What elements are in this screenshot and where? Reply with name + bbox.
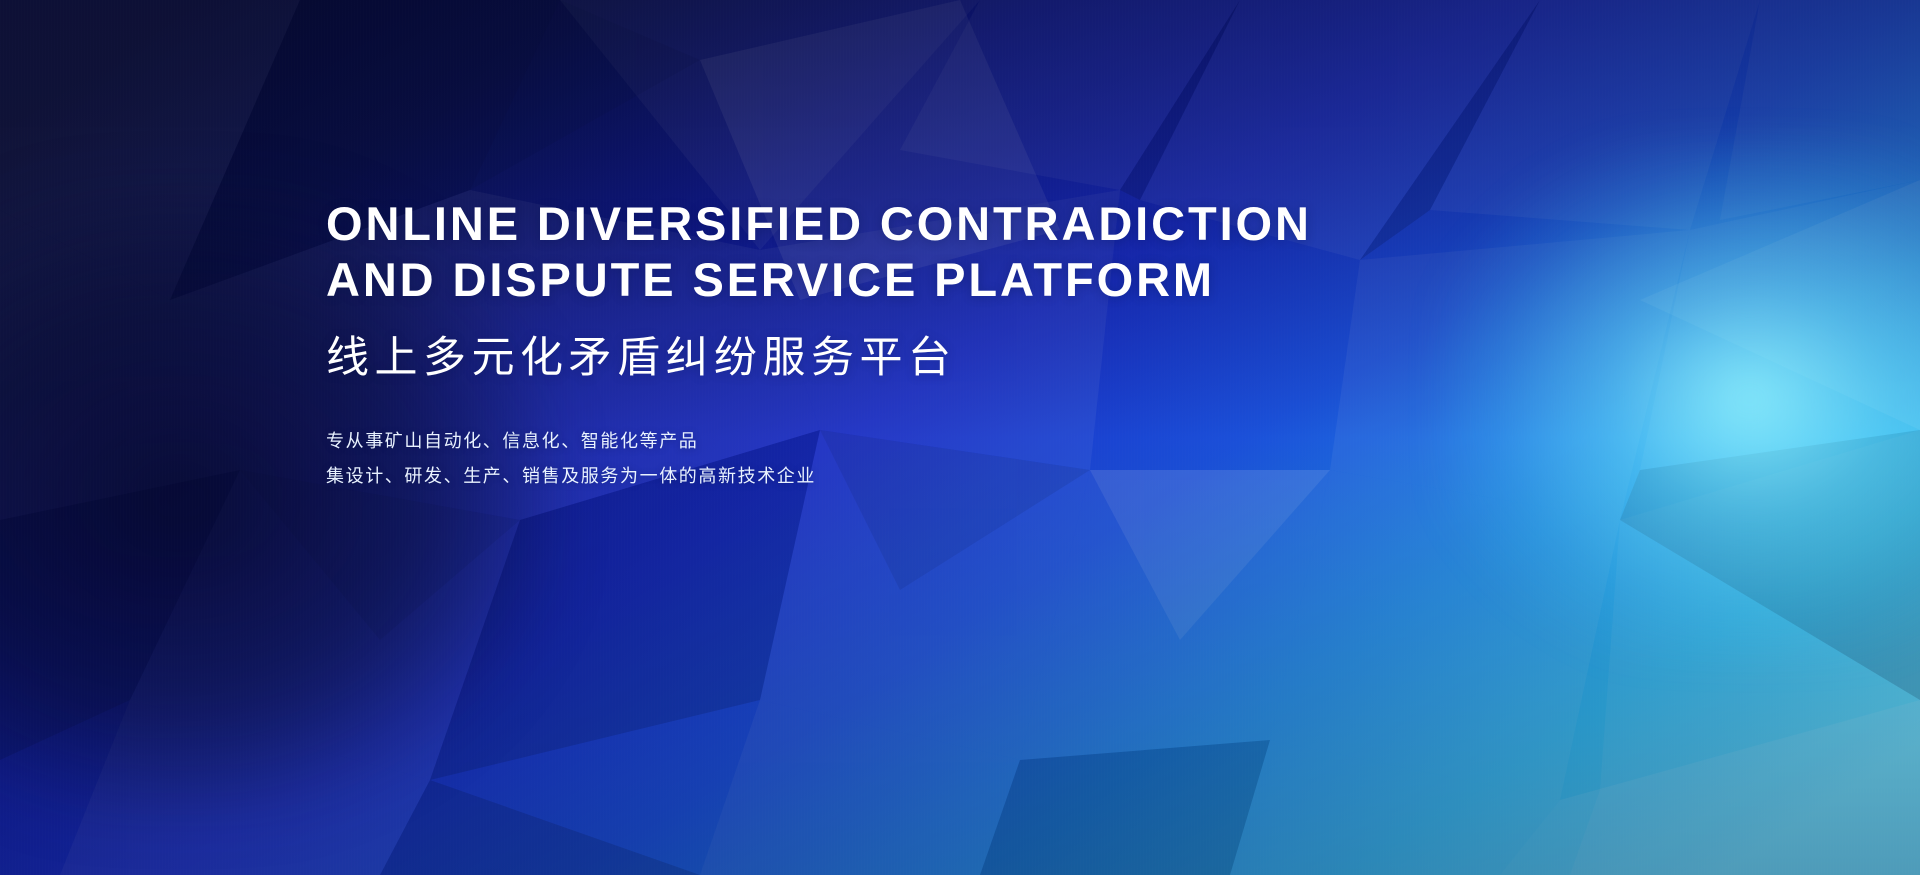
chinese-title: 线上多元化矛盾纠纷服务平台 bbox=[326, 326, 1726, 390]
headline-line-2: AND DISPUTE SERVICE PLATFORM bbox=[326, 252, 1726, 308]
hero-banner: ONLINE DIVERSIFIED CONTRADICTION AND DIS… bbox=[0, 0, 1920, 875]
headline-line-1: ONLINE DIVERSIFIED CONTRADICTION bbox=[326, 196, 1726, 252]
subtitle-line-1: 专从事矿山自动化、信息化、智能化等产品 bbox=[326, 424, 1726, 459]
subtitle-group: 专从事矿山自动化、信息化、智能化等产品 集设计、研发、生产、销售及服务为一体的高… bbox=[326, 424, 1726, 494]
hero-text-block: ONLINE DIVERSIFIED CONTRADICTION AND DIS… bbox=[326, 196, 1726, 494]
subtitle-line-2: 集设计、研发、生产、销售及服务为一体的高新技术企业 bbox=[326, 459, 1726, 494]
